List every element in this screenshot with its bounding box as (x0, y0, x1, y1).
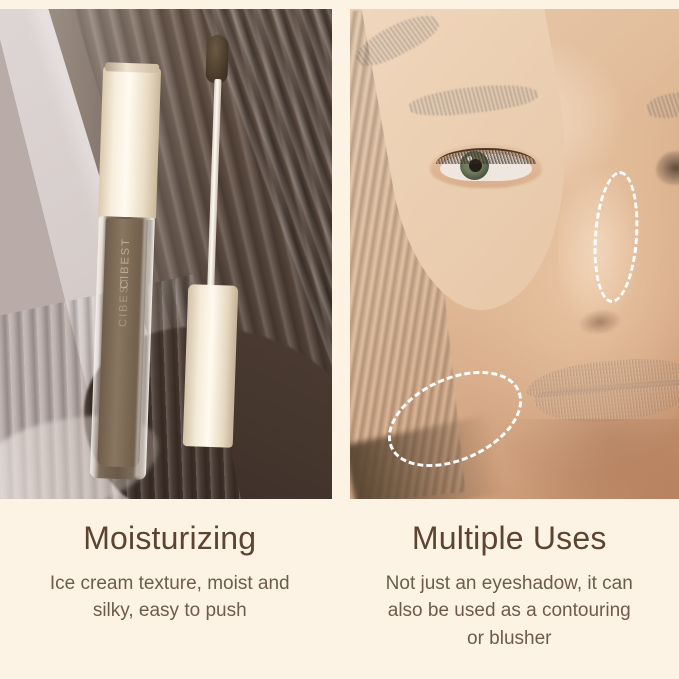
model-face-photo (350, 9, 679, 499)
face-image-panel (350, 9, 679, 499)
caption-title-moisturizing: Moisturizing (6, 500, 334, 557)
wand-stem (207, 79, 221, 291)
caption-line: also be used as a contouring (388, 600, 631, 621)
wand-handle (183, 284, 239, 448)
caption-line: Ice cream texture, moist and (50, 573, 290, 594)
caption-line: Not just an eyeshadow, it can (386, 573, 633, 594)
chin-shadow (500, 419, 679, 499)
product-feature-page: CIBEST CIBEST (0, 0, 679, 679)
caption-body-moisturizing: Ice cream texture, moist and silky, easy… (6, 557, 334, 625)
caption-line: or blusher (467, 628, 552, 649)
product-image-panel: CIBEST CIBEST (0, 9, 332, 499)
caption-body-multiple-uses: Not just an eyeshadow, it can also be us… (346, 557, 674, 653)
caption-line: silky, easy to push (93, 600, 247, 621)
tube-cap-top (105, 62, 159, 73)
wand-tip (205, 35, 229, 84)
caption-multiple-uses: Multiple Uses Not just an eyeshadow, it … (340, 500, 679, 679)
eye-left (430, 144, 542, 188)
product-tube-photo: CIBEST CIBEST (0, 9, 332, 499)
captions-row: Moisturizing Ice cream texture, moist an… (0, 500, 679, 679)
tube-cap (98, 66, 161, 220)
caption-title-multiple-uses: Multiple Uses (346, 500, 674, 557)
caption-moisturizing: Moisturizing Ice cream texture, moist an… (0, 500, 340, 679)
image-row: CIBEST CIBEST (0, 9, 679, 499)
